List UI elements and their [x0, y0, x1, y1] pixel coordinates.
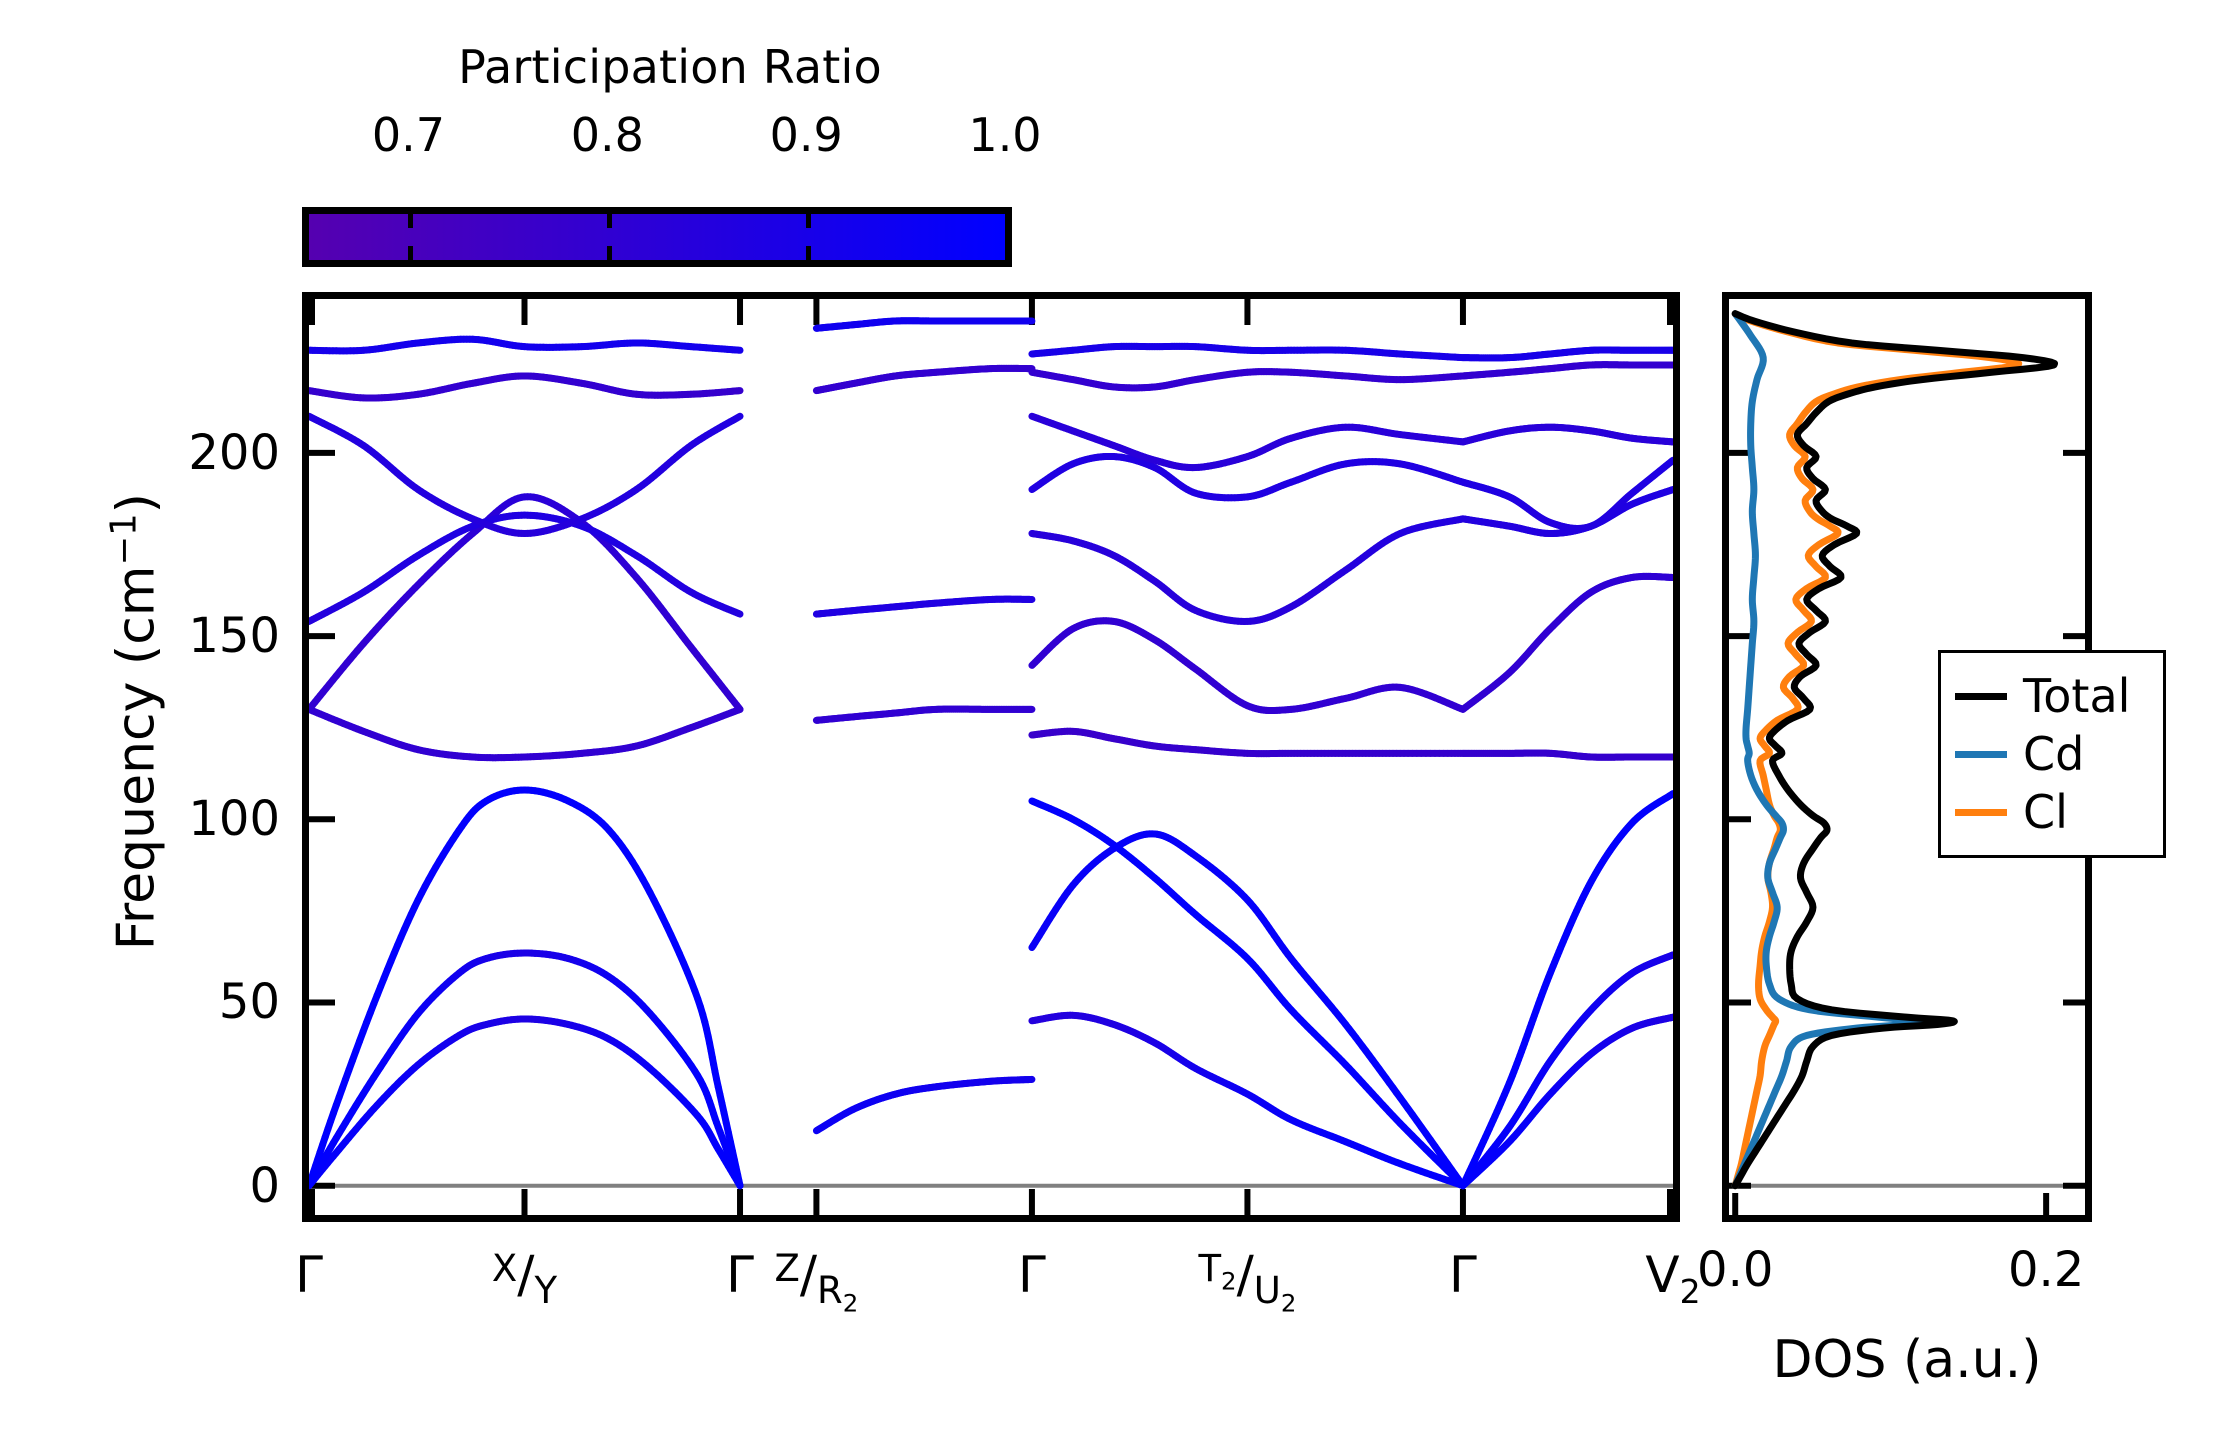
y-tick-label-150: 150: [188, 608, 280, 664]
band-x-tick-label-6: Γ: [1449, 1250, 1477, 1300]
dos-x-tick-label-0.2: 0.2: [2008, 1242, 2084, 1298]
band-x-tick-label-2: Γ: [726, 1250, 754, 1300]
y-tick-label-50: 50: [219, 974, 280, 1030]
legend-item-cd: Cd: [1955, 725, 2153, 783]
colorbar-tick-label-1: 0.8: [571, 108, 644, 162]
band-lines: [309, 321, 1673, 1186]
dos-legend: TotalCdCl: [1938, 650, 2166, 858]
band-x-axis-tick-labels: ΓX/YΓZ/R2ΓT2/U2ΓV2: [302, 1232, 1680, 1362]
band-x-tick-label-5: T2/U2: [1198, 1250, 1296, 1305]
colorbar-tick-2: [806, 246, 811, 260]
band-structure-panel: [302, 292, 1680, 1222]
colorbar-title: Participation Ratio: [300, 40, 1040, 94]
band-structure-plot: [309, 299, 1673, 1215]
band-x-tick-label-1: X/Y: [492, 1250, 557, 1301]
colorbar-tick-label-2: 0.9: [770, 108, 843, 162]
legend-item-cl: Cl: [1955, 783, 2153, 841]
dos-x-axis-tick-labels: 0.00.2: [1722, 1232, 2092, 1302]
phonon-figure: Participation Ratio 0.70.80.91.0 Frequen…: [0, 0, 2230, 1455]
legend-item-total: Total: [1955, 667, 2153, 725]
band-x-tick-label-7: V2: [1645, 1250, 1700, 1308]
band-x-tick-label-4: Γ: [1018, 1250, 1046, 1300]
legend-label-cd: Cd: [2023, 731, 2084, 777]
colorbar-tick-2: [806, 214, 811, 228]
legend-label-total: Total: [2023, 673, 2130, 719]
colorbar-tick-0: [408, 214, 413, 228]
colorbar-tick-1: [607, 246, 612, 260]
y-tick-label-0: 0: [249, 1158, 280, 1214]
y-tick-label-200: 200: [188, 425, 280, 481]
colorbar-tick-labels: 0.70.80.91.0: [300, 108, 1040, 166]
dos-x-tick-label-0.0: 0.0: [1697, 1242, 1773, 1298]
y-tick-label-100: 100: [188, 791, 280, 847]
colorbar-tick-label-3: 1.0: [968, 108, 1041, 162]
colorbar-tick-label-0: 0.7: [372, 108, 445, 162]
band-x-tick-label-3: Z/R2: [775, 1250, 859, 1305]
colorbar-tick-0: [408, 246, 413, 260]
legend-swatch-cl: [1955, 809, 2007, 816]
legend-label-cl: Cl: [2023, 789, 2068, 835]
legend-swatch-cd: [1955, 751, 2007, 758]
legend-swatch-total: [1955, 693, 2007, 700]
band-x-tick-label-0: Γ: [295, 1250, 323, 1300]
y-axis-tick-labels: 050100150200: [70, 292, 280, 1222]
participation-ratio-colorbar: [302, 207, 1012, 267]
dos-x-axis-label: DOS (a.u.): [1652, 1330, 2162, 1390]
colorbar-tick-1: [607, 214, 612, 228]
